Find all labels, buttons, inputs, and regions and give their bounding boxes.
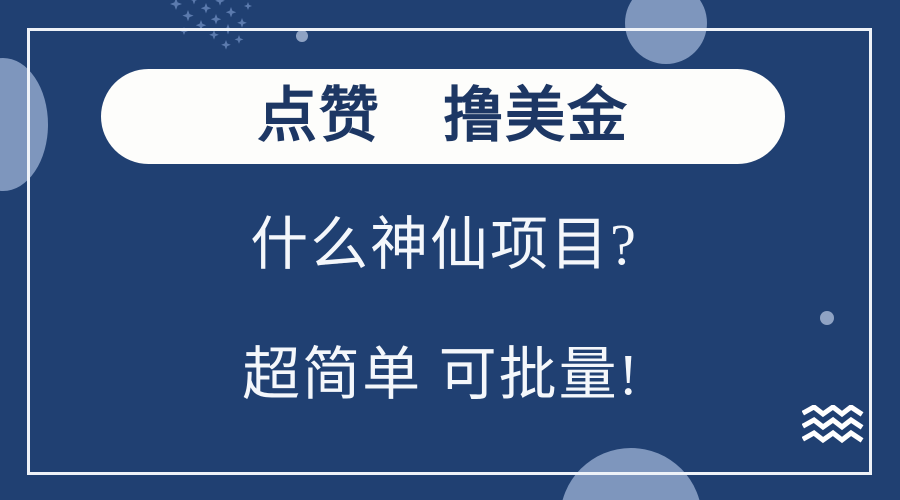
headline-pill: 点赞 撸美金 [101,69,785,164]
subline-claim: 超简单 可批量! [0,346,891,404]
promo-poster: 点赞 撸美金 什么神仙项目? 超简单 可批量! [0,0,900,500]
headline-text: 点赞 撸美金 [257,86,629,146]
subline-question: 什么神仙项目? [0,216,894,274]
poster-content: 点赞 撸美金 什么神仙项目? 超简单 可批量! [0,0,900,500]
